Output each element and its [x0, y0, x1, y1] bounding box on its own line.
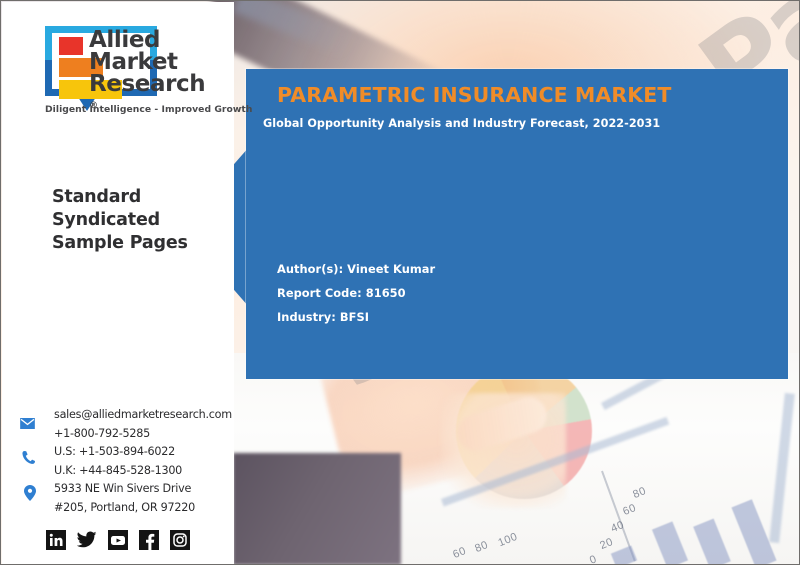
contact-text-column: sales@alliedmarketresearch.com +1-800-79…	[54, 406, 232, 518]
envelope-icon	[20, 416, 35, 434]
report-cover-page: 80 60 40 20 0 60 80 100 Sample Pages PAR…	[0, 0, 800, 565]
report-code: Report Code: 81650	[277, 281, 435, 305]
social-links	[46, 530, 190, 550]
company-logo[interactable]: Allied Market Research® Diligent Intelli…	[42, 24, 204, 116]
contact-phone-uk[interactable]: U.K: +44-845-528-1300	[54, 462, 232, 481]
photo-suit-sleeve	[233, 453, 401, 564]
left-sidebar: Allied Market Research® Diligent Intelli…	[2, 2, 234, 565]
contact-email[interactable]: sales@alliedmarketresearch.com	[54, 406, 232, 425]
report-detail-panel	[246, 69, 788, 379]
logo-line-3-text: Research	[89, 73, 205, 95]
logo-line-2: Market	[89, 51, 205, 73]
report-industry: Industry: BFSI	[277, 305, 435, 329]
contact-address-line-2: #205, Portland, OR 97220	[54, 499, 232, 518]
instagram-icon[interactable]	[170, 530, 190, 550]
contact-phone-us[interactable]: U.S: +1-503-894-6022	[54, 443, 232, 462]
youtube-icon[interactable]	[108, 530, 128, 550]
contact-address-line-1: 5933 NE Win Sivers Drive	[54, 480, 232, 499]
sample-pages-heading: Standard Syndicated Sample Pages	[52, 186, 188, 255]
facebook-icon[interactable]	[139, 530, 159, 550]
location-pin-icon	[24, 485, 36, 506]
logo-line-1: Allied	[89, 29, 205, 51]
sample-heading-line-2: Syndicated	[52, 209, 188, 232]
sample-heading-line-3: Sample Pages	[52, 232, 188, 255]
linkedin-icon[interactable]	[46, 530, 66, 550]
page-subtitle: Global Opportunity Analysis and Industry…	[263, 117, 660, 130]
contact-phone-toll-free[interactable]: +1-800-792-5285	[54, 425, 232, 444]
logo-bar-red-icon	[59, 37, 83, 55]
twitter-icon[interactable]	[77, 530, 97, 550]
sample-heading-line-1: Standard	[52, 186, 188, 209]
report-metadata: Author(s): Vineet Kumar Report Code: 816…	[277, 257, 435, 329]
logo-tagline: Diligent Intelligence - Improved Growth	[45, 104, 252, 115]
phone-icon	[22, 450, 36, 470]
report-author: Author(s): Vineet Kumar	[277, 257, 435, 281]
page-title: PARAMETRIC INSURANCE MARKET	[277, 83, 671, 107]
